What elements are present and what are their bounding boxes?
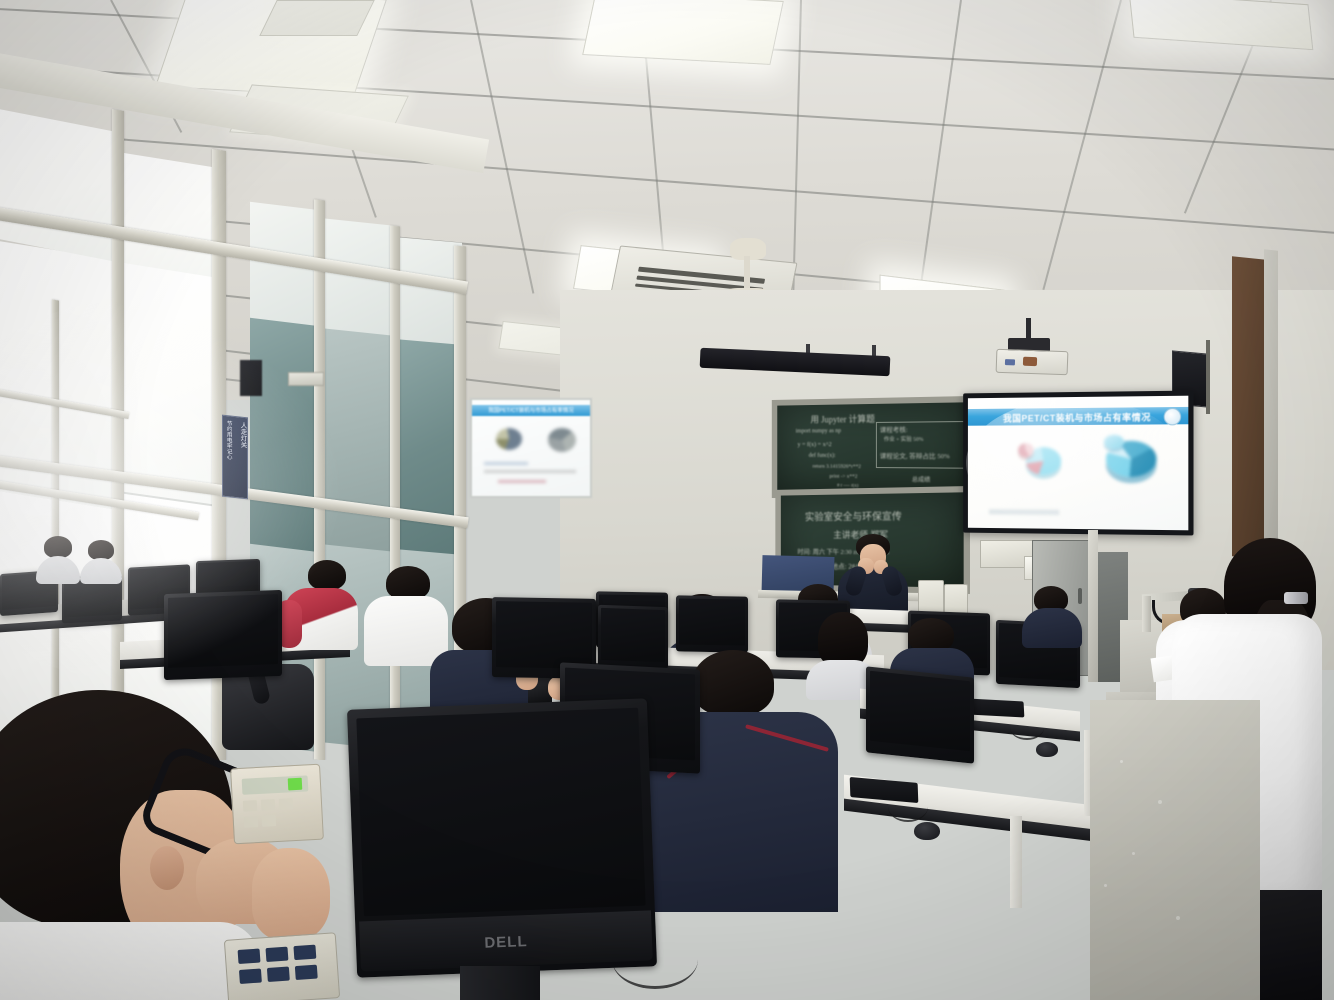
door-frame [1088, 530, 1098, 682]
lab-apparatus-post [1142, 596, 1151, 632]
mouse[interactable] [1036, 742, 1058, 757]
chalk-line: 总成绩 [912, 474, 930, 483]
chalk-line: import numpy as np [796, 428, 841, 434]
monitor-foreground-dell[interactable]: DELL [347, 698, 657, 977]
slide-title: 我国PET/CT装机与市场占有率情况 [968, 410, 1188, 425]
chalk-line: print -> x**2 [829, 474, 857, 480]
projector [996, 349, 1069, 375]
monitor[interactable] [598, 605, 668, 669]
sign-text-right: 人走灯关 [238, 421, 245, 448]
keyboard[interactable] [968, 698, 1025, 717]
keypad-device[interactable] [230, 764, 324, 845]
ceiling-light-panel [582, 0, 784, 65]
adjacent-room-screen: 我国PET/CT装机与市场占有率情况 [470, 398, 592, 498]
desk-leg [1010, 816, 1022, 908]
wall-pillar-edge [1264, 249, 1278, 570]
classroom-photo: 用 Jupyter 计算题 import numpy as np y = f(x… [0, 0, 1334, 1000]
adjacent-slide-title: 我国PET/CT装机与市场占有率情况 [472, 406, 590, 414]
chalk-line: 课程考核: [880, 424, 908, 434]
floor-right [1090, 700, 1260, 1000]
ceiling-light-panel [1129, 0, 1314, 50]
monitor-cable [612, 930, 698, 989]
wall-pillar-wood [1232, 256, 1266, 560]
projection-screen-frame: 我国PET/CT装机与市场占有率情况 [963, 391, 1193, 536]
adjacent-room-speaker [240, 360, 262, 396]
mouse-cable [888, 792, 928, 822]
monitor[interactable] [866, 666, 974, 763]
chalk-line: y = f(x) = x^2 [797, 441, 831, 448]
speaker-bracket [1206, 340, 1210, 414]
chalk-line: return 3.1415926*r**2 [812, 464, 861, 470]
mouse-cable [1010, 716, 1044, 740]
right-pie-chart [968, 396, 1188, 399]
energy-saving-sign: 人走灯关 节约用电牢记心 [222, 415, 248, 500]
projection-screen-face: 我国PET/CT装机与市场占有率情况 [968, 396, 1188, 531]
sign-text-left: 节约用电牢记心 [225, 420, 231, 460]
institution-logo-icon [1164, 408, 1181, 425]
keypad-device-2[interactable] [224, 932, 340, 1000]
monitor[interactable] [676, 595, 748, 652]
chalk-line: 实验室安全与环保宣传 [805, 508, 902, 524]
left-pie-chart [968, 396, 1188, 399]
adjacent-room-projector [288, 372, 324, 386]
mouse[interactable] [914, 822, 940, 840]
door-handle-icon [1078, 588, 1082, 604]
chalk-line: 用 Jupyter 计算题 [811, 412, 875, 426]
chalk-line: 作业 + 实验 50% [884, 435, 924, 443]
chalk-line: def func(x): [809, 453, 836, 459]
monitor[interactable] [164, 590, 282, 680]
monitor-stand [460, 966, 540, 1000]
chalk-line: 课程论文, 答辩占比 50% [880, 450, 950, 460]
hair-clip [1284, 592, 1308, 604]
